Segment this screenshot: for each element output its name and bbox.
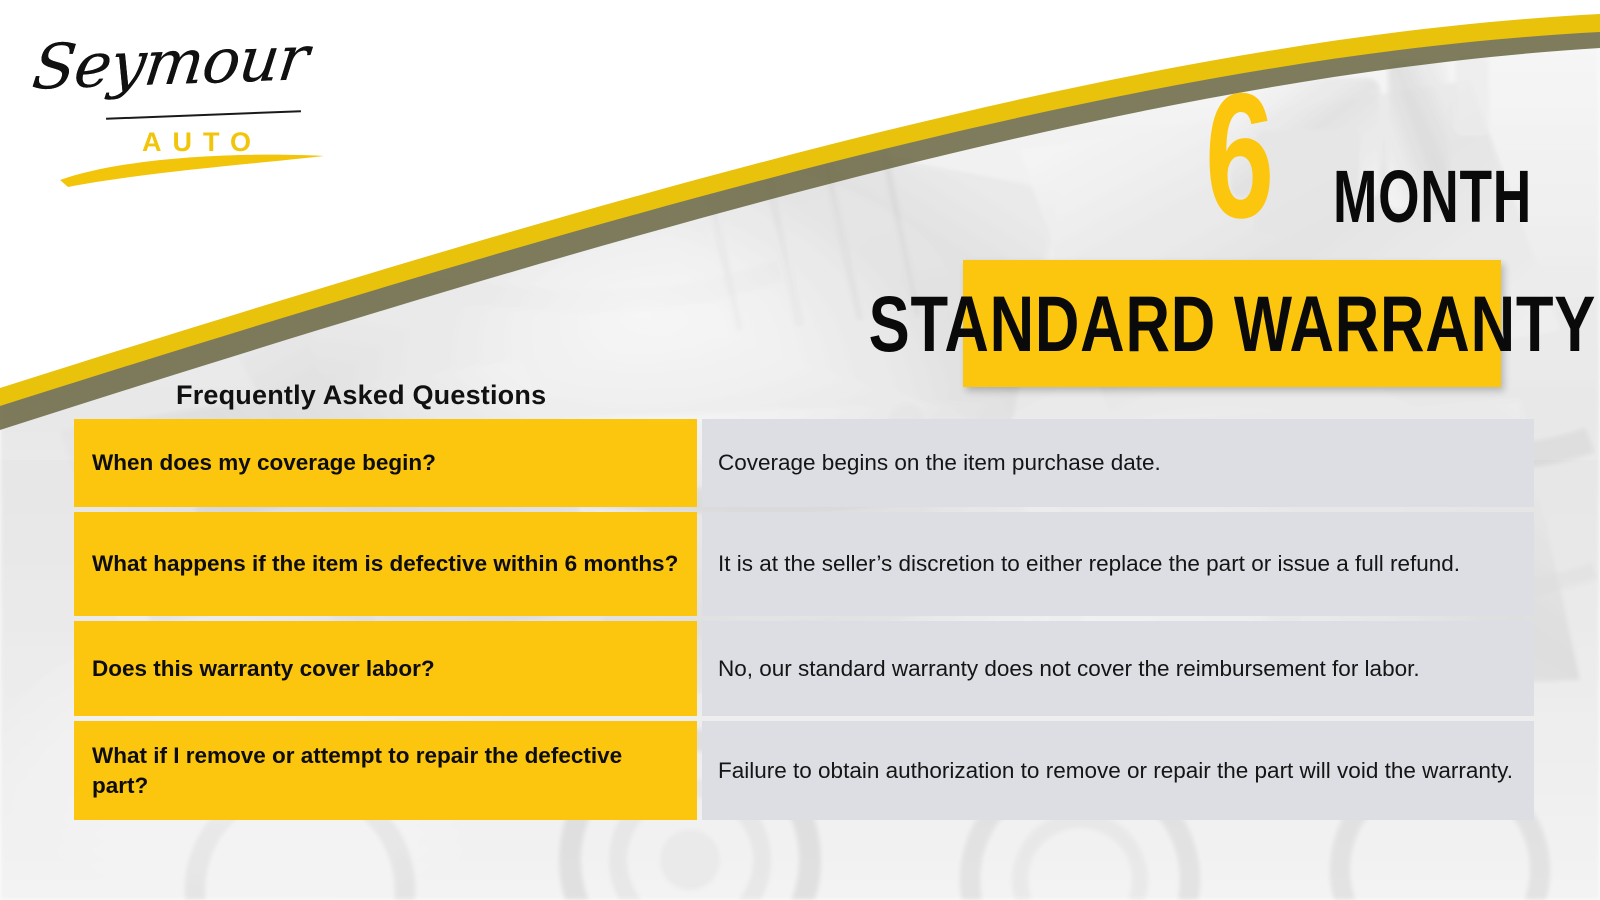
logo-swoosh-icon (58, 150, 328, 190)
faq-answer-cell: It is at the seller’s discretion to eith… (702, 512, 1534, 616)
faq-answer-cell: No, our standard warranty does not cover… (702, 621, 1534, 716)
warranty-duration: 6 MONTH (1205, 75, 1535, 245)
faq-question-text: What if I remove or attempt to repair th… (92, 741, 679, 801)
faq-answer-text: Coverage begins on the item purchase dat… (718, 448, 1518, 478)
faq-heading: Frequently Asked Questions (176, 380, 546, 411)
faq-answer-cell: Coverage begins on the item purchase dat… (702, 419, 1534, 507)
warranty-banner-title: STANDARD WARRANTY (868, 284, 1596, 363)
duration-unit: MONTH (1333, 160, 1532, 234)
faq-question-cell: When does my coverage begin? (74, 419, 697, 507)
standard-warranty-banner: STANDARD WARRANTY (963, 260, 1501, 387)
duration-number: 6 (1205, 67, 1272, 245)
faq-answer-text: It is at the seller’s discretion to eith… (718, 549, 1518, 579)
faq-question-text: What happens if the item is defective wi… (92, 549, 678, 579)
faq-question-cell: What happens if the item is defective wi… (74, 512, 697, 616)
slide-canvas: Seymour AUTO 6 MONTH STANDARD WARRANTY F… (0, 0, 1600, 900)
table-row: Does this warranty cover labor? No, our … (74, 621, 1534, 716)
faq-question-text: Does this warranty cover labor? (92, 654, 435, 684)
table-row: What if I remove or attempt to repair th… (74, 721, 1534, 820)
faq-table: When does my coverage begin? Coverage be… (74, 419, 1534, 820)
table-row: When does my coverage begin? Coverage be… (74, 419, 1534, 507)
faq-answer-text: Failure to obtain authorization to remov… (718, 756, 1518, 786)
faq-question-text: When does my coverage begin? (92, 448, 436, 478)
seymour-auto-logo[interactable]: Seymour AUTO (28, 22, 338, 182)
faq-question-cell: Does this warranty cover labor? (74, 621, 697, 716)
logo-underline (106, 110, 301, 119)
faq-question-cell: What if I remove or attempt to repair th… (74, 721, 697, 820)
logo-wordmark: Seymour (29, 21, 312, 103)
table-row: What happens if the item is defective wi… (74, 512, 1534, 616)
faq-answer-text: No, our standard warranty does not cover… (718, 654, 1518, 684)
faq-answer-cell: Failure to obtain authorization to remov… (702, 721, 1534, 820)
